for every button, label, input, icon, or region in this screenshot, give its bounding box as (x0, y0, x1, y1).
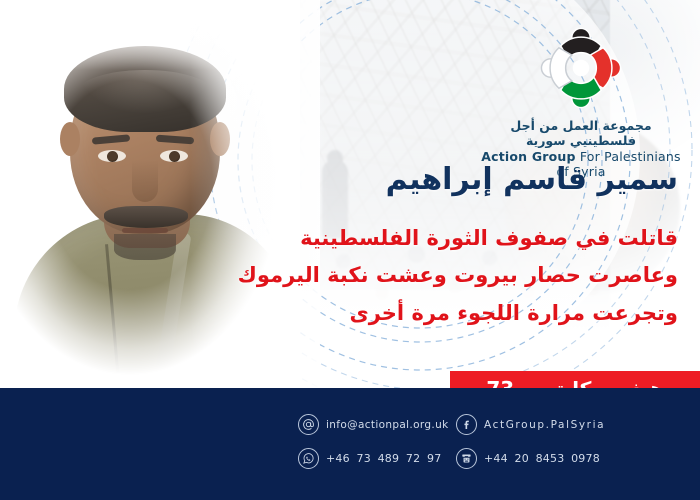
footer-row: +46 73 489 72 97 +44 20 8453 0978 (298, 448, 682, 469)
organization-logo: مجموعة العمل من أجل فلسطينيي سورية Actio… (476, 22, 686, 179)
portrait-photo (0, 0, 300, 388)
portrait-image (8, 18, 294, 388)
body-line: وعاصرت حصار بيروت وعشت نكبة اليرموك (258, 257, 678, 294)
contact-whatsapp-value: +46 73 489 72 97 (326, 452, 441, 465)
portrait-ear-left (60, 122, 80, 156)
body-text-block: قاتلت في صفوف الثورة الفلسطينية وعاصرت ح… (258, 220, 678, 332)
whatsapp-icon (298, 448, 319, 469)
page-title: سمير قاسم إبراهيم (258, 163, 678, 196)
portrait-ear-right (210, 122, 230, 156)
body-line: وتجرعت مرارة اللجوء مرة أخرى (258, 295, 678, 332)
footer-row: info@actionpal.org.uk ActGroup.PalSyria (298, 414, 682, 435)
contact-whatsapp[interactable]: +46 73 489 72 97 (298, 448, 456, 469)
portrait-mustache (104, 206, 188, 228)
portrait-eye-left (98, 150, 126, 162)
action-group-logo-icon (535, 22, 627, 114)
portrait-hair (64, 46, 226, 132)
logo-arabic-name: مجموعة العمل من أجل فلسطينيي سورية (476, 118, 686, 148)
at-sign-icon (298, 414, 319, 435)
portrait-chin-shadow (114, 234, 176, 260)
body-line: قاتلت في صفوف الثورة الفلسطينية (258, 220, 678, 257)
portrait-nose (132, 160, 158, 202)
contact-facebook-value: ActGroup.PalSyria (484, 419, 605, 431)
footer-bar: info@actionpal.org.uk ActGroup.PalSyria (0, 388, 700, 500)
contact-email[interactable]: info@actionpal.org.uk (298, 414, 456, 435)
contact-phone-value: +44 20 8453 0978 (484, 452, 600, 465)
contact-email-value: info@actionpal.org.uk (326, 419, 449, 431)
portrait-mouth (122, 228, 168, 233)
contact-facebook[interactable]: ActGroup.PalSyria (456, 414, 656, 435)
portrait-eye-right (160, 150, 188, 162)
poster-canvas: مجموعة العمل من أجل فلسطينيي سورية Actio… (0, 0, 700, 500)
telephone-icon (456, 448, 477, 469)
contact-phone[interactable]: +44 20 8453 0978 (456, 448, 656, 469)
footer-contacts: info@actionpal.org.uk ActGroup.PalSyria (298, 414, 682, 482)
facebook-icon (456, 414, 477, 435)
